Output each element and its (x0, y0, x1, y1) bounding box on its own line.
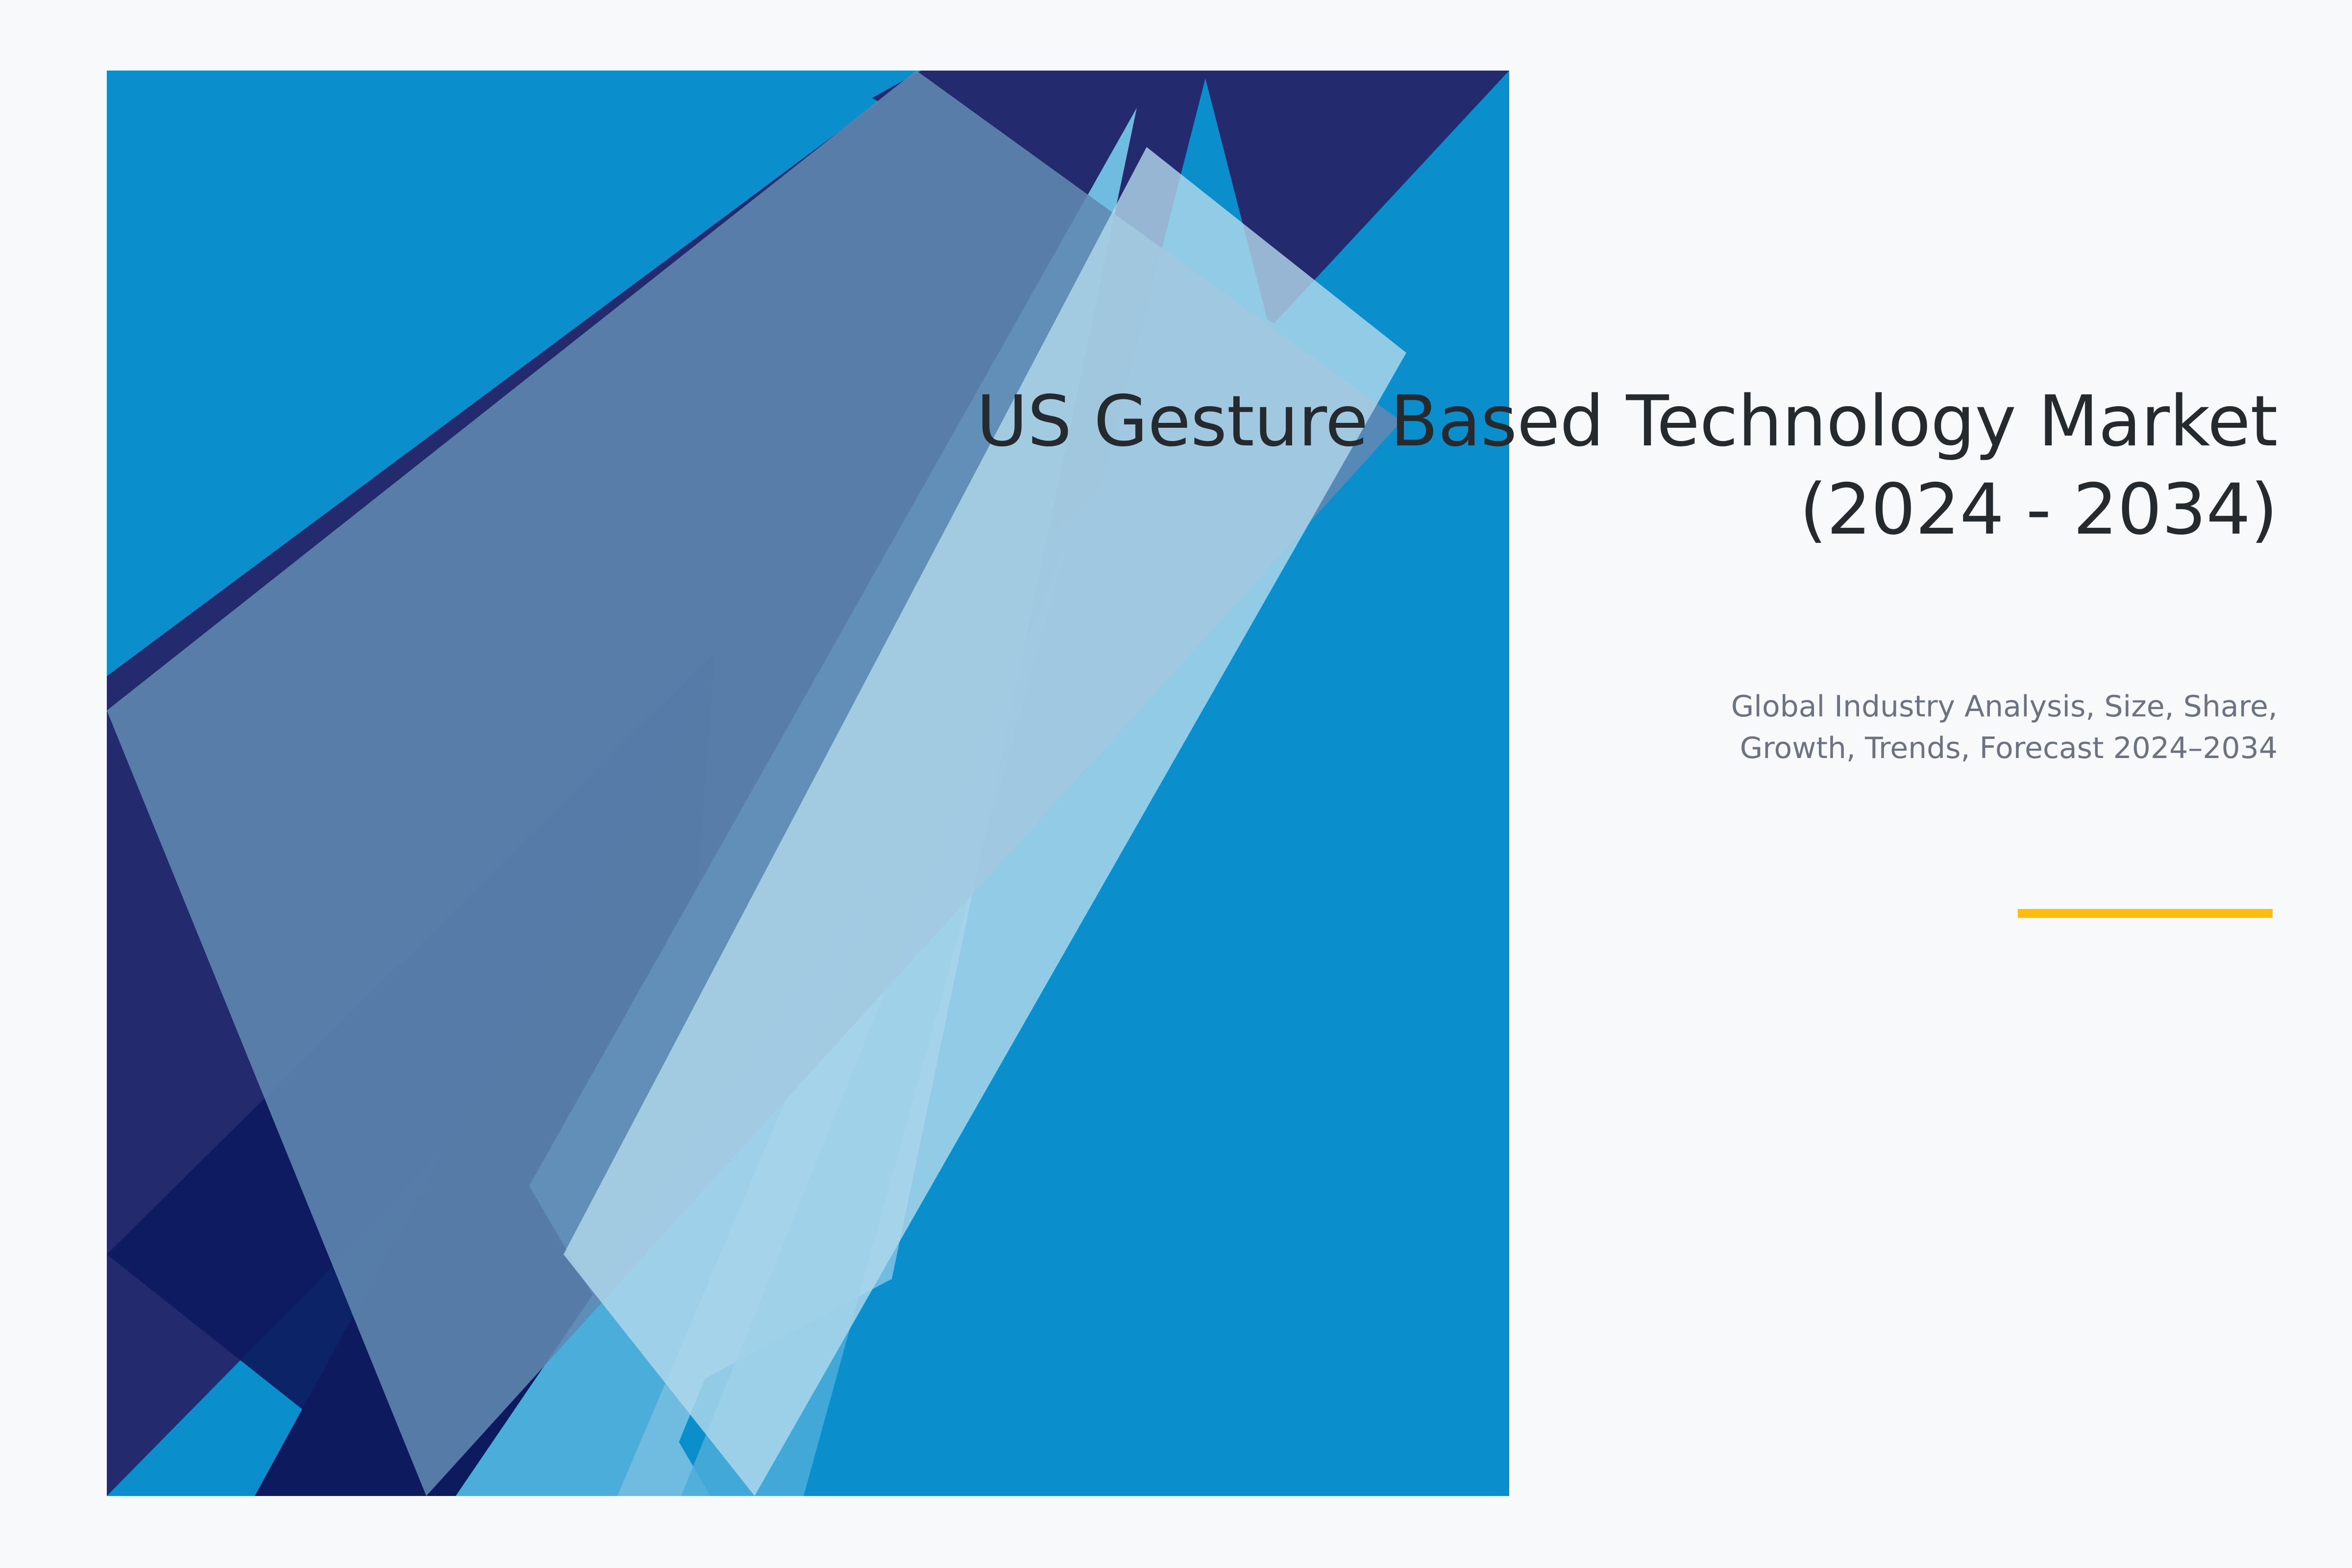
title-block: US Gesture Based Technology Market (2024… (857, 377, 2278, 554)
page-subtitle-line-1: Global Industry Analysis, Size, Share, (1494, 686, 2278, 728)
page-subtitle-line-2: Growth, Trends, Forecast 2024–2034 (1494, 728, 2278, 769)
title-underline-rule (2018, 909, 2273, 918)
page-title: US Gesture Based Technology Market (2024… (857, 377, 2278, 554)
report-cover: US Gesture Based Technology Market (2024… (0, 0, 2352, 1568)
page-subtitle: Global Industry Analysis, Size, Share, G… (1494, 686, 2278, 769)
page-title-line-1: US Gesture Based Technology Market (857, 377, 2278, 465)
abstract-geometric-cover-graphic (0, 0, 2352, 1568)
page-title-line-2: (2024 - 2034) (857, 465, 2278, 554)
